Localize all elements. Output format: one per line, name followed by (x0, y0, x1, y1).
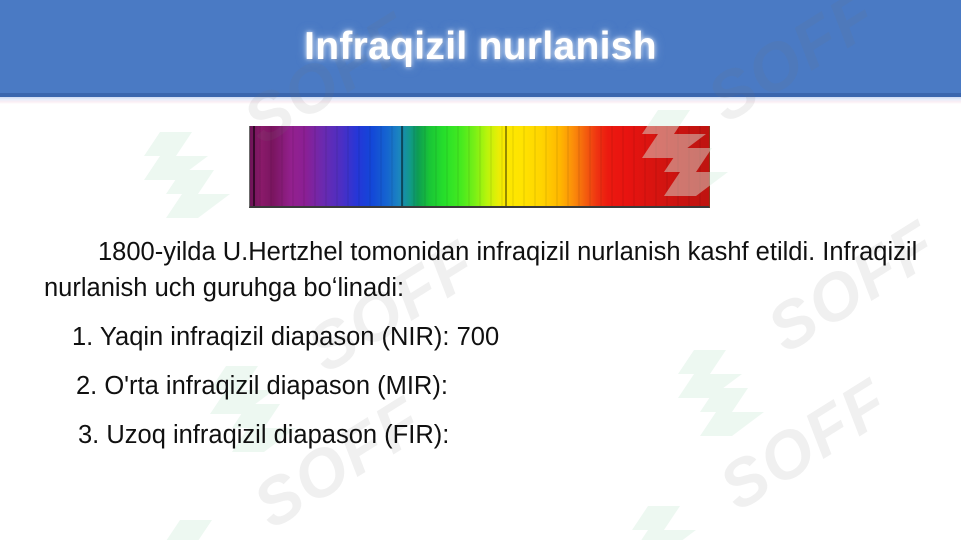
spectrum-image (249, 126, 710, 208)
presentation-slide: Infraqizil nurlanish 1800-yilda U.Hertzh… (0, 0, 961, 540)
spectrum-absorption-line-1 (253, 126, 255, 206)
list-item-nir: 1. Yaqin infraqizil diapason (NIR): 700 (44, 322, 930, 352)
page-title: Infraqizil nurlanish (0, 0, 961, 93)
header-underglow-band (0, 97, 961, 104)
watermark-logo-icon (150, 506, 270, 540)
intro-paragraph: 1800-yilda U.Hertzhel tomonidan infraqiz… (44, 234, 930, 306)
watermark-logo-icon (130, 118, 250, 243)
infrared-range-list: 1. Yaqin infraqizil diapason (NIR): 700 … (44, 322, 930, 450)
spectrum-banding-overlay (250, 126, 709, 206)
watermark-logo-icon (618, 492, 738, 540)
slide-body: 1800-yilda U.Hertzhel tomonidan infraqiz… (44, 234, 930, 469)
list-item-mir: 2. O'rta infraqizil diapason (MIR): (44, 371, 930, 401)
spectrum-absorption-line-3 (505, 126, 507, 206)
list-item-fir: 3. Uzoq infraqizil diapason (FIR): (44, 420, 930, 450)
spectrum-absorption-line-2 (401, 126, 403, 206)
